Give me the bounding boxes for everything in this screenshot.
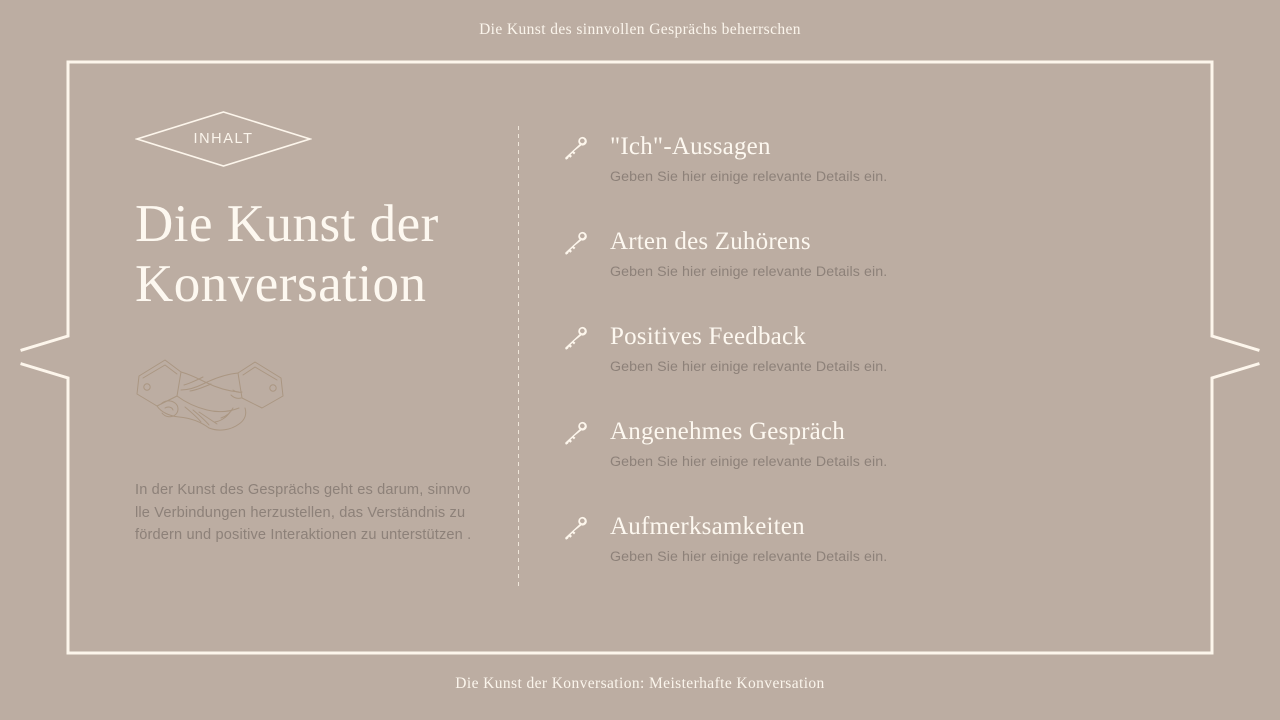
list-item[interactable]: Arten des Zuhörens Geben Sie hier einige… bbox=[563, 226, 1183, 321]
header-title: Die Kunst des sinnvollen Gesprächs beher… bbox=[0, 21, 1280, 39]
key-icon bbox=[563, 326, 593, 352]
key-icon bbox=[563, 516, 593, 542]
key-icon bbox=[563, 231, 593, 257]
list-item[interactable]: Angenehmes Gespräch Geben Sie hier einig… bbox=[563, 416, 1183, 511]
intro-paragraph: In der Kunst des Gesprächs geht es darum… bbox=[135, 479, 473, 547]
list-item-desc: Geben Sie hier einige relevante Details … bbox=[610, 359, 887, 375]
list-item[interactable]: Aufmerksamkeiten Geben Sie hier einige r… bbox=[563, 511, 1183, 606]
list-item-desc: Geben Sie hier einige relevante Details … bbox=[610, 264, 887, 280]
list-item-title: Aufmerksamkeiten bbox=[610, 511, 805, 542]
list-item[interactable]: Positives Feedback Geben Sie hier einige… bbox=[563, 321, 1183, 416]
list-item-title: Arten des Zuhörens bbox=[610, 226, 811, 257]
inhalt-badge-label: INHALT bbox=[135, 110, 312, 168]
list-item-title: Positives Feedback bbox=[610, 321, 806, 352]
footer-title: Die Kunst der Konversation: Meisterhafte… bbox=[0, 675, 1280, 693]
page-title: Die Kunst der Konversation bbox=[135, 194, 505, 314]
list-item-title: "Ich"-Aussagen bbox=[610, 131, 771, 162]
list-item-desc: Geben Sie hier einige relevante Details … bbox=[610, 169, 887, 185]
content-list: "Ich"-Aussagen Geben Sie hier einige rel… bbox=[563, 131, 1183, 606]
handshake-illustration bbox=[135, 354, 285, 442]
key-icon bbox=[563, 136, 593, 162]
key-icon bbox=[563, 421, 593, 447]
inhalt-badge: INHALT bbox=[135, 110, 312, 168]
list-item-title: Angenehmes Gespräch bbox=[610, 416, 845, 447]
list-item[interactable]: "Ich"-Aussagen Geben Sie hier einige rel… bbox=[563, 131, 1183, 226]
list-item-desc: Geben Sie hier einige relevante Details … bbox=[610, 454, 887, 470]
vertical-dotted-divider bbox=[518, 126, 519, 588]
left-column: INHALT Die Kunst der Konversation bbox=[135, 110, 495, 547]
list-item-desc: Geben Sie hier einige relevante Details … bbox=[610, 549, 887, 565]
